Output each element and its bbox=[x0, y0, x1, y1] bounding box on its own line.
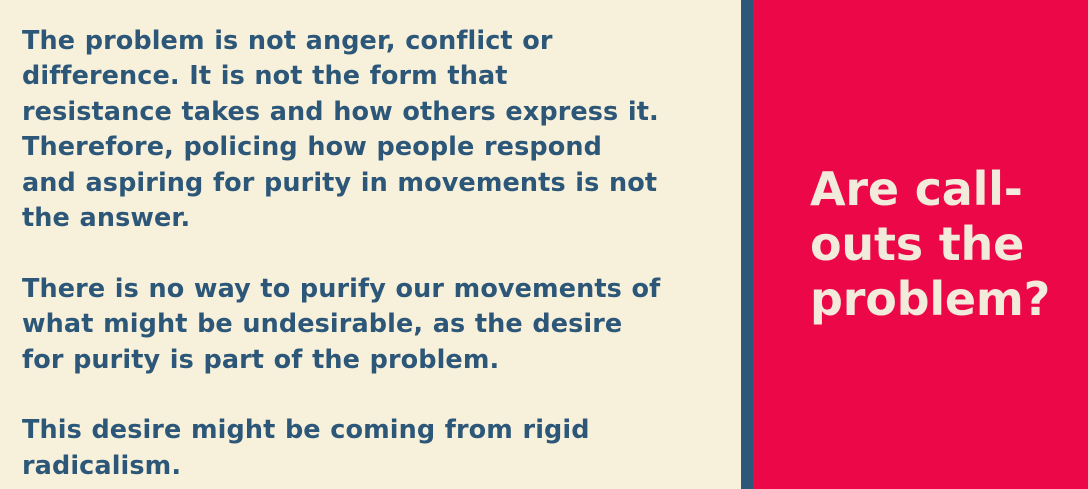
headline-title: Are call-outs the problem? bbox=[810, 162, 1060, 327]
quote-panel: The problem is not anger, conflict or di… bbox=[0, 0, 741, 489]
quote-paragraph-3: This desire might be coming from rigid r… bbox=[22, 413, 662, 484]
quote-paragraph-1: The problem is not anger, conflict or di… bbox=[22, 24, 662, 236]
vertical-divider bbox=[741, 0, 753, 489]
quote-body: The problem is not anger, conflict or di… bbox=[22, 24, 681, 484]
quote-paragraph-2: There is no way to purify our movements … bbox=[22, 272, 662, 378]
quote-card: The problem is not anger, conflict or di… bbox=[0, 0, 1088, 489]
headline-panel: Are call-outs the problem? bbox=[753, 0, 1088, 489]
